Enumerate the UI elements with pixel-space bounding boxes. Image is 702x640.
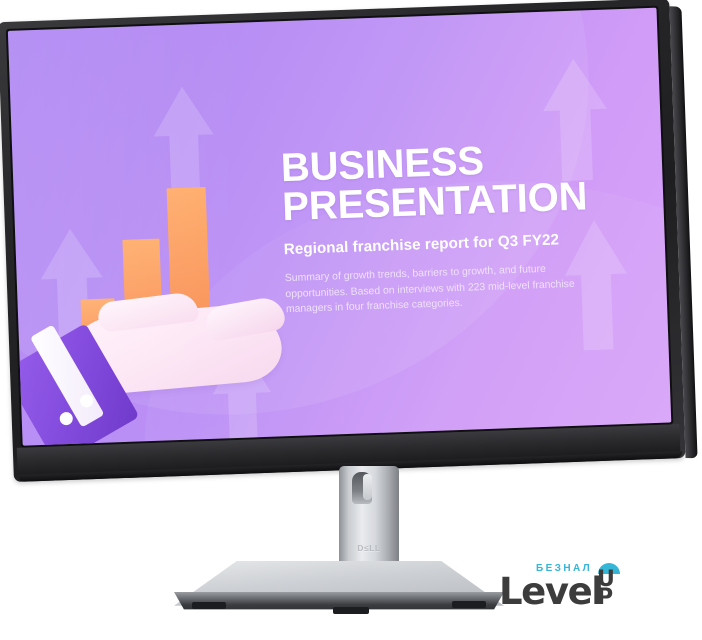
dell-logo: D≤LL bbox=[339, 543, 399, 553]
hand-chart-illustration bbox=[34, 196, 292, 445]
base-foot-center bbox=[333, 607, 369, 614]
base-foot-right bbox=[452, 601, 486, 608]
slide-title: BUSINESS PRESENTATION bbox=[280, 137, 623, 227]
watermark-letter-p: P bbox=[597, 589, 613, 607]
monitor-bezel-side-depth bbox=[669, 6, 697, 458]
levelup-watermark: БЕЗНАЛ Level U P bbox=[493, 560, 693, 630]
slide-subtitle: Regional franchise report for Q3 FY22 bbox=[284, 229, 624, 258]
cable-management-slot-highlight bbox=[363, 474, 372, 500]
monitor-bezel: BUSINESS PRESENTATION Regional franchise… bbox=[0, 0, 686, 482]
dell-monitor: BUSINESS PRESENTATION Regional franchise… bbox=[0, 0, 702, 640]
base-foot-left bbox=[192, 602, 226, 609]
product-photo-stage: BUSINESS PRESENTATION Regional franchise… bbox=[0, 0, 702, 640]
monitor-screen: BUSINESS PRESENTATION Regional franchise… bbox=[8, 8, 671, 446]
watermark-wordmark: Level bbox=[499, 570, 603, 613]
slide-text-block: BUSINESS PRESENTATION Regional franchise… bbox=[280, 137, 626, 317]
